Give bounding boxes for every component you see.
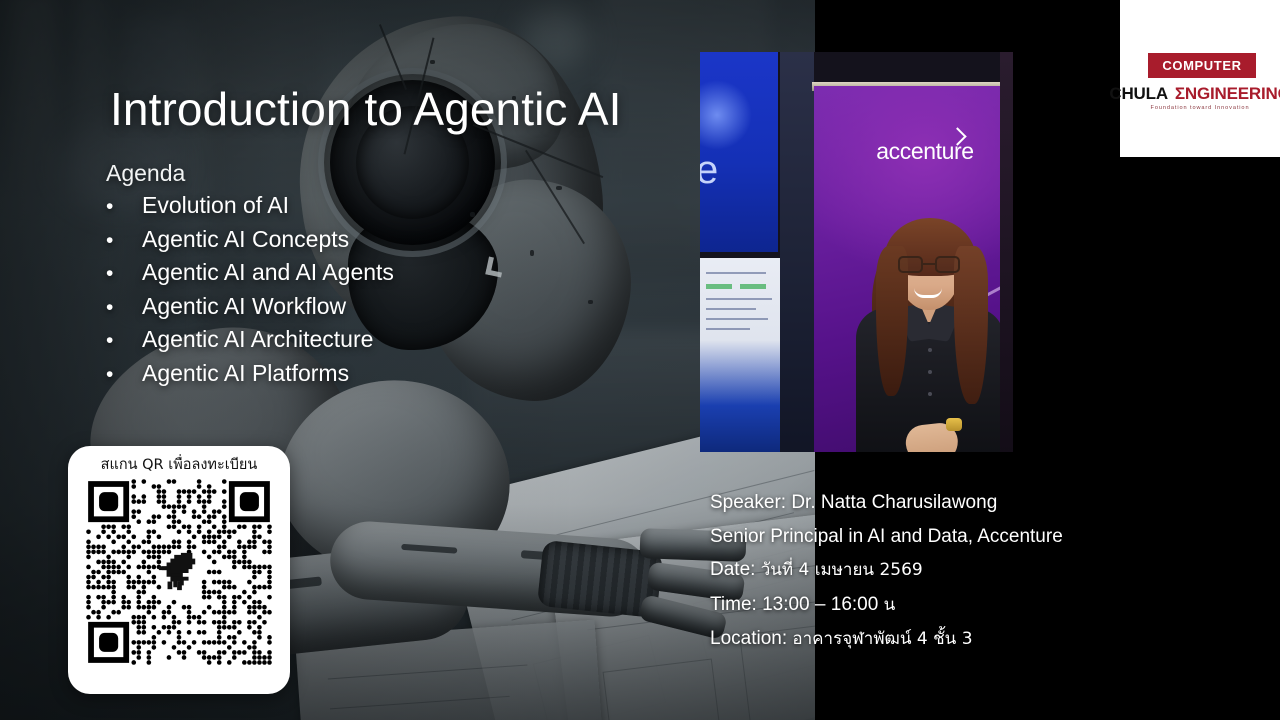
agenda-item-label: Agentic AI Concepts <box>142 226 349 253</box>
speaker-portrait <box>850 212 1010 452</box>
agenda-item-label: Agentic AI and AI Agents <box>142 259 394 286</box>
page-title: Introduction to Agentic AI <box>110 82 622 136</box>
agenda-item-label: Agentic AI Workflow <box>142 293 346 320</box>
list-item: • Agentic AI Platforms <box>106 360 626 394</box>
logo-wordmark: CHULA ΣNGINEERING <box>1120 84 1280 104</box>
photo-pillar <box>780 52 814 452</box>
bullet-icon: • <box>106 230 142 251</box>
time-label: Time: <box>710 594 762 615</box>
dinosaur-icon <box>156 551 202 593</box>
list-item: • Agentic AI Workflow <box>106 293 626 327</box>
bullet-icon: • <box>106 364 142 385</box>
presentation-slide: Introduction to Agentic AI Agenda • Evol… <box>0 0 1280 720</box>
engineering-rest: NGINEERING <box>1185 84 1280 103</box>
speaker-info-block: Speaker: Dr. Natta Charusilawong Senior … <box>710 486 1230 657</box>
bullet-icon: • <box>106 196 142 217</box>
photo-background-monitor <box>700 258 780 452</box>
list-item: • Agentic AI Concepts <box>106 226 626 260</box>
agenda-item-label: Evolution of AI <box>142 192 289 219</box>
speaker-role-line: Senior Principal in AI and Data, Accentu… <box>710 520 1230 554</box>
speaker-photo: e accenture <box>700 52 1013 452</box>
chula-engineering-logo: COMPUTER CHULA ΣNGINEERING Foundation to… <box>1120 0 1280 157</box>
time-value: 13:00 – 16:00 <box>762 594 884 615</box>
accenture-wordmark: accenture <box>860 138 990 165</box>
photo-screen-glyph: e <box>700 148 718 193</box>
chula-label: CHULA <box>1109 84 1168 104</box>
agenda-item-label: Agentic AI Platforms <box>142 360 349 387</box>
list-item: • Agentic AI and AI Agents <box>106 259 626 293</box>
agenda-list: • Evolution of AI • Agentic AI Concepts … <box>106 192 626 393</box>
date-value: วันที่ 4 เมษายน 2569 <box>761 560 923 580</box>
event-time-line: Time: 13:00 – 16:00 น <box>710 588 1230 623</box>
speaker-name-line: Speaker: Dr. Natta Charusilawong <box>710 486 1230 520</box>
bullet-icon: • <box>106 263 142 284</box>
qr-code[interactable] <box>86 479 272 665</box>
agenda-item-label: Agentic AI Architecture <box>142 326 373 353</box>
photo-right-edge <box>1000 52 1013 452</box>
sigma-glyph: Σ <box>1175 84 1185 103</box>
glasses-icon <box>898 256 960 273</box>
event-date-line: Date: วันที่ 4 เมษายน 2569 <box>710 553 1230 588</box>
list-item: • Evolution of AI <box>106 192 626 226</box>
event-location-line: Location: อาคารจุฬาพัฒน์ 4 ชั้น 3 <box>710 622 1230 657</box>
qr-caption: สแกน QR เพื่อลงทะเบียน <box>101 453 258 476</box>
date-label: Date: <box>710 559 761 580</box>
agenda-heading: Agenda <box>106 160 185 187</box>
bullet-icon: • <box>106 330 142 351</box>
engineering-label: ΣNGINEERING <box>1175 84 1280 104</box>
wristwatch <box>946 418 962 431</box>
logo-tagline: Foundation toward Innovation <box>1120 105 1280 111</box>
time-suffix: น <box>884 595 896 615</box>
computer-label: COMPUTER <box>1162 58 1241 73</box>
qr-registration-card[interactable]: สแกน QR เพื่อลงทะเบียน <box>68 446 290 694</box>
bullet-icon: • <box>106 297 142 318</box>
location-value: อาคารจุฬาพัฒน์ 4 ชั้น 3 <box>792 629 972 649</box>
computer-department-badge: COMPUTER <box>1148 53 1256 78</box>
list-item: • Agentic AI Architecture <box>106 326 626 360</box>
location-label: Location: <box>710 628 792 649</box>
